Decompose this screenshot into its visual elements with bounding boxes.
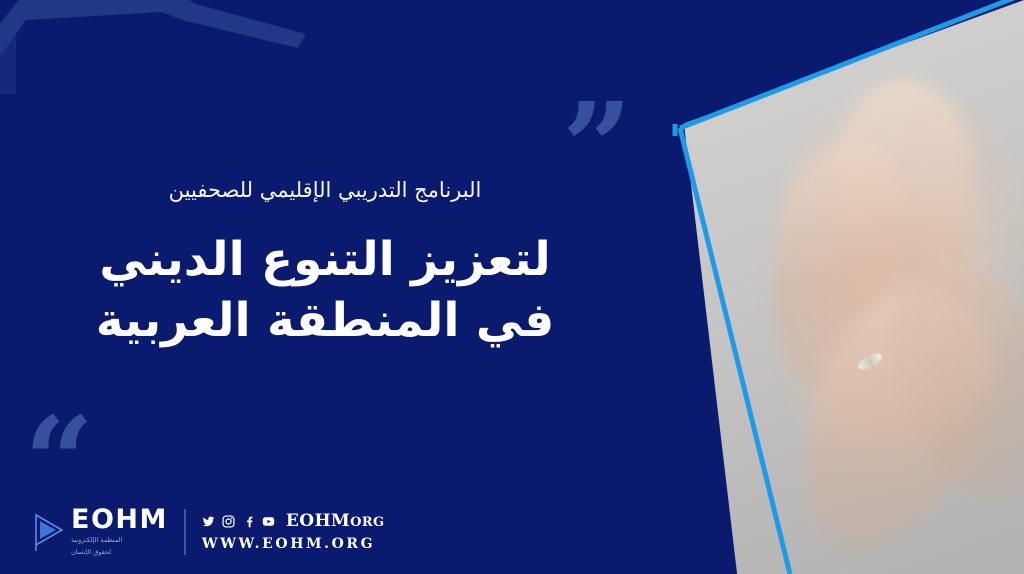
eohm-arabic-subtitle: المنظمة الإلكترونية	[71, 536, 122, 546]
finger-ring	[856, 350, 884, 372]
hand-shape-upper-right	[831, 76, 987, 385]
hand-shape-upper-left	[749, 128, 918, 397]
social-row: EOHMORG	[202, 511, 385, 531]
eohm-wordmark: EOHM	[71, 506, 168, 533]
headline-text: لتعزيز التنوع الديني في المنطقة العربية	[0, 230, 650, 350]
eohm-arabic-subtitle-2: لحقوق الإنسان	[71, 548, 111, 558]
headline-line-1: لتعزيز التنوع الديني	[99, 232, 550, 287]
social-handle: EOHMORG	[286, 511, 385, 531]
eohm-logo-text: EOHM المنظمة الإلكترونية لحقوق الإنسان	[71, 506, 168, 559]
hand-shape-lower-left	[770, 266, 1022, 574]
social-handle-main: EOHM	[286, 511, 350, 531]
contact-block: EOHMORG WWW.EOHM.ORG	[202, 511, 385, 552]
instagram-icon[interactable]	[222, 515, 235, 528]
poster-canvas: ” “ البرنامج التدريبي الإقليمي للصحفيين …	[0, 0, 1024, 574]
facebook-icon[interactable]	[242, 515, 255, 528]
footer-bar: EOHM المنظمة الإلكترونية لحقوق الإنسان	[34, 506, 385, 559]
praying-hands-photo-panel	[644, 0, 1024, 574]
social-handle-suffix: ORG	[350, 515, 384, 530]
youtube-icon[interactable]	[262, 515, 275, 528]
photo-image	[644, 0, 1024, 574]
program-eyebrow-text: البرنامج التدريبي الإقليمي للصحفيين	[0, 176, 650, 204]
chevron-arrow-decoration-icon	[0, 0, 306, 95]
website-url[interactable]: WWW.EOHM.ORG	[202, 536, 385, 552]
eohm-triangle-logo-mark-icon	[34, 511, 64, 553]
headline-line-2: في المنطقة العربية	[0, 291, 650, 351]
headline-block: البرنامج التدريبي الإقليمي للصحفيين لتعز…	[0, 176, 650, 351]
eohm-logo[interactable]: EOHM المنظمة الإلكترونية لحقوق الإنسان	[34, 506, 168, 559]
footer-divider	[184, 509, 186, 555]
twitter-icon[interactable]	[202, 515, 215, 528]
hand-shape-lower-right	[868, 249, 1024, 518]
